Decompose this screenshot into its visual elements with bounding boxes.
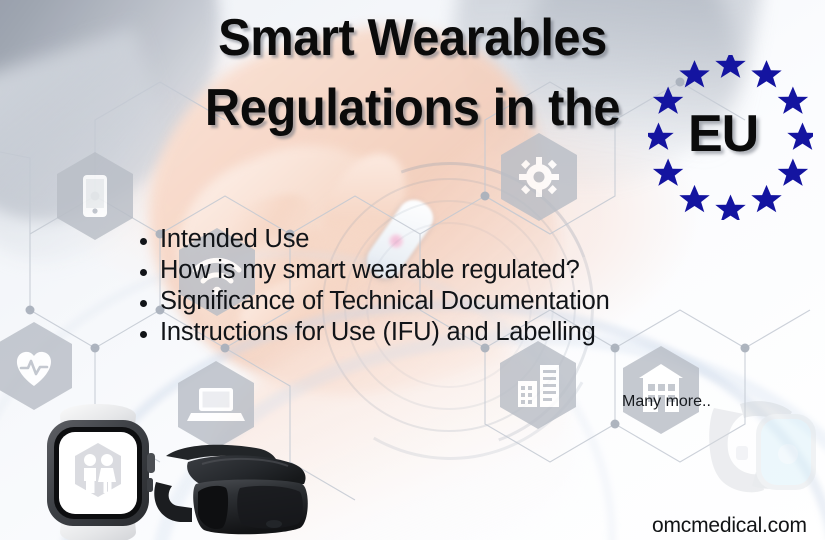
smartwatch-ghost-product <box>700 398 818 510</box>
many-more-label: Many more.. <box>622 393 711 411</box>
title-line-2: Regulations in the <box>25 82 801 134</box>
list-item: Instructions for Use (IFU) and Labelling <box>160 317 610 348</box>
list-item: Significance of Technical Documentation <box>160 286 610 317</box>
vr-headset-product <box>148 440 313 540</box>
poster-canvas: Smart Wearables Regulations in the EU In… <box>0 0 825 540</box>
topic-list: Intended Use How is my smart wearable re… <box>136 224 610 348</box>
eu-word: EU <box>688 104 758 164</box>
list-item: How is my smart wearable regulated? <box>160 255 610 286</box>
title-line-1: Smart Wearables <box>25 12 801 64</box>
website-url: omcmedical.com <box>652 514 807 538</box>
list-item: Intended Use <box>160 224 610 255</box>
